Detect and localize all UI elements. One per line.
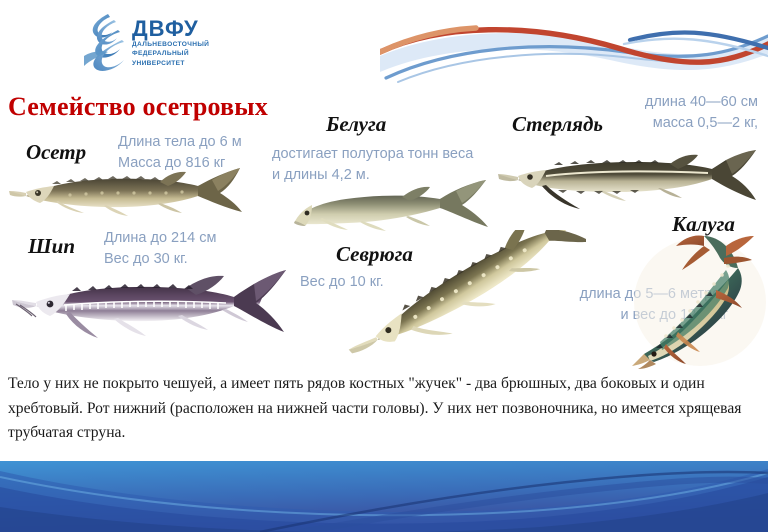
university-logo: ДВФУ ДАЛЬНЕВОСТОЧНЫЙ ФЕДЕРАЛЬНЫЙ УНИВЕРС… — [78, 12, 218, 84]
fish-sterlyad — [498, 146, 760, 212]
species-note-sterlyad: длина 40—60 см масса 0,5—2 кг, — [562, 92, 758, 134]
dvfu-ribbon-icon — [78, 12, 130, 76]
logo-subline-1: ДАЛЬНЕВОСТОЧНЫЙ — [132, 41, 224, 49]
body-paragraph: Тело у них не покрыто чешуей, а имеет пя… — [8, 372, 760, 446]
fish-kaluga — [630, 232, 768, 370]
logo-acronym: ДВФУ — [132, 18, 224, 40]
logo-subline-3: УНИВЕРСИТЕТ — [132, 60, 224, 68]
page-title: Семейство осетровых — [8, 92, 268, 122]
species-note-line: длина 40—60 см — [562, 92, 758, 113]
fish-ship — [10, 264, 290, 342]
species-note-line: достигает полутора тонн веса — [272, 144, 473, 165]
slide-canvas: ДВФУ ДАЛЬНЕВОСТОЧНЫЙ ФЕДЕРАЛЬНЫЙ УНИВЕРС… — [0, 0, 768, 532]
species-label-beluga: Белуга — [326, 112, 386, 137]
logo-subline-2: ФЕДЕРАЛЬНЫЙ — [132, 50, 224, 58]
fish-osetr — [8, 160, 254, 222]
decorative-bottom-band — [0, 461, 768, 532]
species-note-line: масса 0,5—2 кг, — [562, 113, 758, 134]
decorative-top-waves — [380, 4, 768, 96]
species-label-ship: Шип — [28, 234, 75, 259]
fish-beluga — [290, 175, 500, 237]
logo-wordmark: ДВФУ ДАЛЬНЕВОСТОЧНЫЙ ФЕДЕРАЛЬНЫЙ УНИВЕРС… — [132, 18, 224, 68]
species-note-line: Длина до 214 см — [104, 228, 216, 249]
species-note-line: Длина тела до 6 м — [118, 132, 242, 153]
